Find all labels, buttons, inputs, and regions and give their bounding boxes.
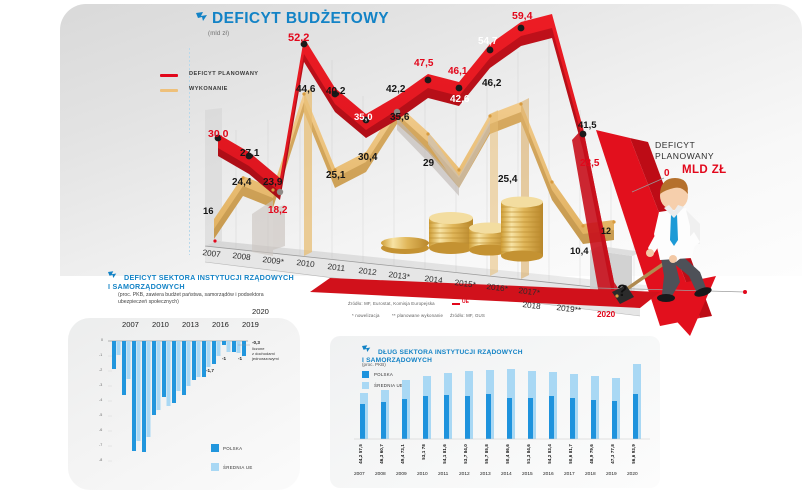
br-values-2007: 44,2 57,5 [358, 444, 363, 464]
br-values-2009: 49,4 73,1 [400, 444, 405, 464]
br-year-2016: 2016 [543, 472, 554, 477]
value-label-planowany-2014: 47,5 [414, 58, 433, 69]
bottom-left-chart-canvas [68, 318, 300, 490]
br-values-2015: 51,3 84,6 [526, 444, 531, 464]
bottom-right-chart-canvas [330, 336, 660, 488]
bl-ytick-1: -1 [99, 353, 102, 357]
bl-note-line3: jednorazowymi [252, 357, 279, 362]
value-label-wykonanie-2015: 29 [423, 158, 434, 169]
br-year-2014: 2014 [501, 472, 512, 477]
bottom-left-title-line2: I SAMORZĄDOWYCH [108, 282, 308, 291]
br-bars [360, 364, 641, 439]
br-year-2009: 2009 [396, 472, 407, 477]
value-label-planowany-2016: 54,7 [478, 36, 497, 47]
value-label-planowany-2015: 46,1 [448, 66, 467, 77]
bl-ytick-7: -7 [99, 443, 102, 447]
callout-line1: DEFICYT [655, 140, 714, 151]
value-label-wykonanie-2018: 25,4 [498, 174, 517, 185]
question-mark-marker: ? [617, 281, 627, 301]
value-label-wykonanie-2009-alt: 18,2 [268, 205, 287, 216]
bl-callout-1b: -1 [238, 356, 242, 361]
value-label-wykonanie-2017: 46,2 [482, 78, 501, 89]
bl-xtick-2010: 2010 [152, 320, 169, 329]
bird-logo-icon-bl [108, 271, 119, 280]
br-values-2008: 46,3 60,7 [379, 444, 384, 464]
value-label-planowany-2007: 30,0 [208, 128, 228, 140]
footnote-source-1: Źródło: MF, Eurostat, Komisja Europejska [348, 301, 435, 306]
bl-ytick-6: -6 [99, 428, 102, 432]
br-values-2012: 53,7 84,0 [463, 444, 468, 464]
legend-label-planowany: DEFICYT PLANOWANY [189, 71, 259, 77]
br-values-2018: 48,9 79,6 [589, 444, 594, 464]
bl-callout-03: -0,3 [252, 340, 260, 345]
bl-callout-17: -1,7 [206, 368, 214, 373]
footnote-ue-label: UE [462, 299, 469, 305]
footnote-ue-dash [452, 303, 460, 305]
main-chart-unit: (mld zł) [208, 31, 229, 37]
callout-line2: PLANOWANY [655, 151, 714, 162]
footnote-star-2: ** planowane wykonanie [392, 313, 443, 318]
bl-legend-label-ue: ŚREDNIA UE [223, 465, 253, 470]
bl-legend-label-polska: POLSKA [223, 446, 242, 451]
br-values-2014: 50,4 86,6 [505, 444, 510, 464]
value-label-wykonanie-2008: 24,4 [232, 177, 251, 188]
bl-ytick-2: -2 [99, 368, 102, 372]
coin-stacks-icon [381, 197, 543, 262]
value-label-planowany-2008: 27,1 [240, 148, 259, 159]
bl-xtick-2019: 2019 [242, 320, 259, 329]
bl-xtick-2007: 2007 [122, 320, 139, 329]
callout-text: DEFICYT PLANOWANY [655, 140, 714, 162]
br-year-2010: 2010 [417, 472, 428, 477]
br-values-2010: 53,1 78 [421, 444, 426, 460]
year-label-2020: 2020 [597, 310, 615, 319]
br-year-2007: 2007 [354, 472, 365, 477]
value-label-wykonanie-2012: 30,4 [358, 152, 377, 163]
value-label-wykonanie-2011: 25,1 [326, 170, 345, 181]
origin-dot [213, 239, 216, 242]
footnote-star-1: * nowelizacja [352, 313, 380, 318]
br-values-2016: 54,2 83,4 [547, 444, 552, 464]
br-values-2017: 50,6 81,7 [568, 444, 573, 464]
value-label-planowany-2011: 40,2 [326, 86, 345, 97]
value-label-planowany-2019: 28,5 [580, 158, 599, 169]
value-label-planowany-2009: 52,2 [288, 32, 309, 44]
legend-swatch-wykonanie [160, 89, 178, 92]
value-label-wykonanie-2009: 23,9 [263, 177, 282, 188]
bottom-left-title: DEFICYT SEKTORA INSTYTUCJI RZĄDOWYCH I S… [108, 272, 308, 291]
legend-label-wykonanie: WYKONANIE [189, 86, 228, 92]
br-values-2020: 56,6 93,9 [631, 444, 636, 464]
br-values-2019: 47,3 77,8 [610, 444, 615, 464]
br-year-2019: 2019 [606, 472, 617, 477]
br-year-2018: 2018 [585, 472, 596, 477]
value-label-wykonanie-2016: 42,6 [450, 94, 469, 105]
value-label-wykonanie-2010: 44,6 [296, 84, 315, 95]
bottom-left-subtitle: (proc. PKB, zawiera budżet państwa, samo… [118, 292, 288, 305]
footnote-source-2: Źródło: MF, GUS [450, 313, 485, 318]
value-label-planowany-2012: 35,0 [354, 112, 373, 123]
br-year-2012: 2012 [459, 472, 470, 477]
legend-divider-bottom [189, 150, 190, 255]
bl-legend-swatch-ue [211, 463, 219, 471]
bird-logo-icon [196, 9, 207, 18]
value-label-wykonanie-2007: 16 [203, 206, 214, 217]
bl-ytick-0: 0 [101, 338, 103, 342]
value-label-wykonanie-2014: 35,6 [390, 112, 409, 123]
br-year-2020: 2020 [627, 472, 638, 477]
value-label-wykonanie-2019: 10,4 [570, 246, 589, 257]
br-values-2011: 54,1 81,6 [442, 444, 447, 464]
bl-xtick-2013: 2013 [182, 320, 199, 329]
legend-swatch-planowany [160, 74, 178, 77]
bl-legend-swatch-polska [211, 444, 219, 452]
bl-ytick-4: -4 [99, 398, 102, 402]
value-label-planowany-2018: 41,5 [578, 120, 597, 131]
bl-xtick-2020: 2020 [252, 307, 269, 316]
callout-value: 0 [664, 168, 670, 179]
bl-xtick-2016: 2016 [212, 320, 229, 329]
br-year-2013: 2013 [480, 472, 491, 477]
bl-callout-1a: -1 [222, 356, 226, 361]
br-year-2011: 2011 [438, 472, 448, 477]
bottom-left-title-line1: DEFICYT SEKTORA INSTYTUCJI RZĄDOWYCH [124, 273, 294, 282]
br-values-2013: 55,7 85,8 [484, 444, 489, 464]
br-year-2017: 2017 [564, 472, 575, 477]
br-year-2008: 2008 [375, 472, 386, 477]
bl-ytick-8: -8 [99, 458, 102, 462]
value-label-planowany-2017: 59,4 [512, 10, 532, 22]
br-year-2015: 2015 [522, 472, 533, 477]
page-title: DEFICYT BUDŻETOWY [196, 10, 389, 28]
callout-unit: MLD ZŁ [682, 164, 727, 176]
value-label-wykonanie-2013: 42,2 [386, 84, 405, 95]
bl-ytick-3: -3 [99, 383, 102, 387]
value-label-wykonanie-2020: 12 [601, 226, 611, 236]
bl-ytick-5: -5 [99, 413, 102, 417]
